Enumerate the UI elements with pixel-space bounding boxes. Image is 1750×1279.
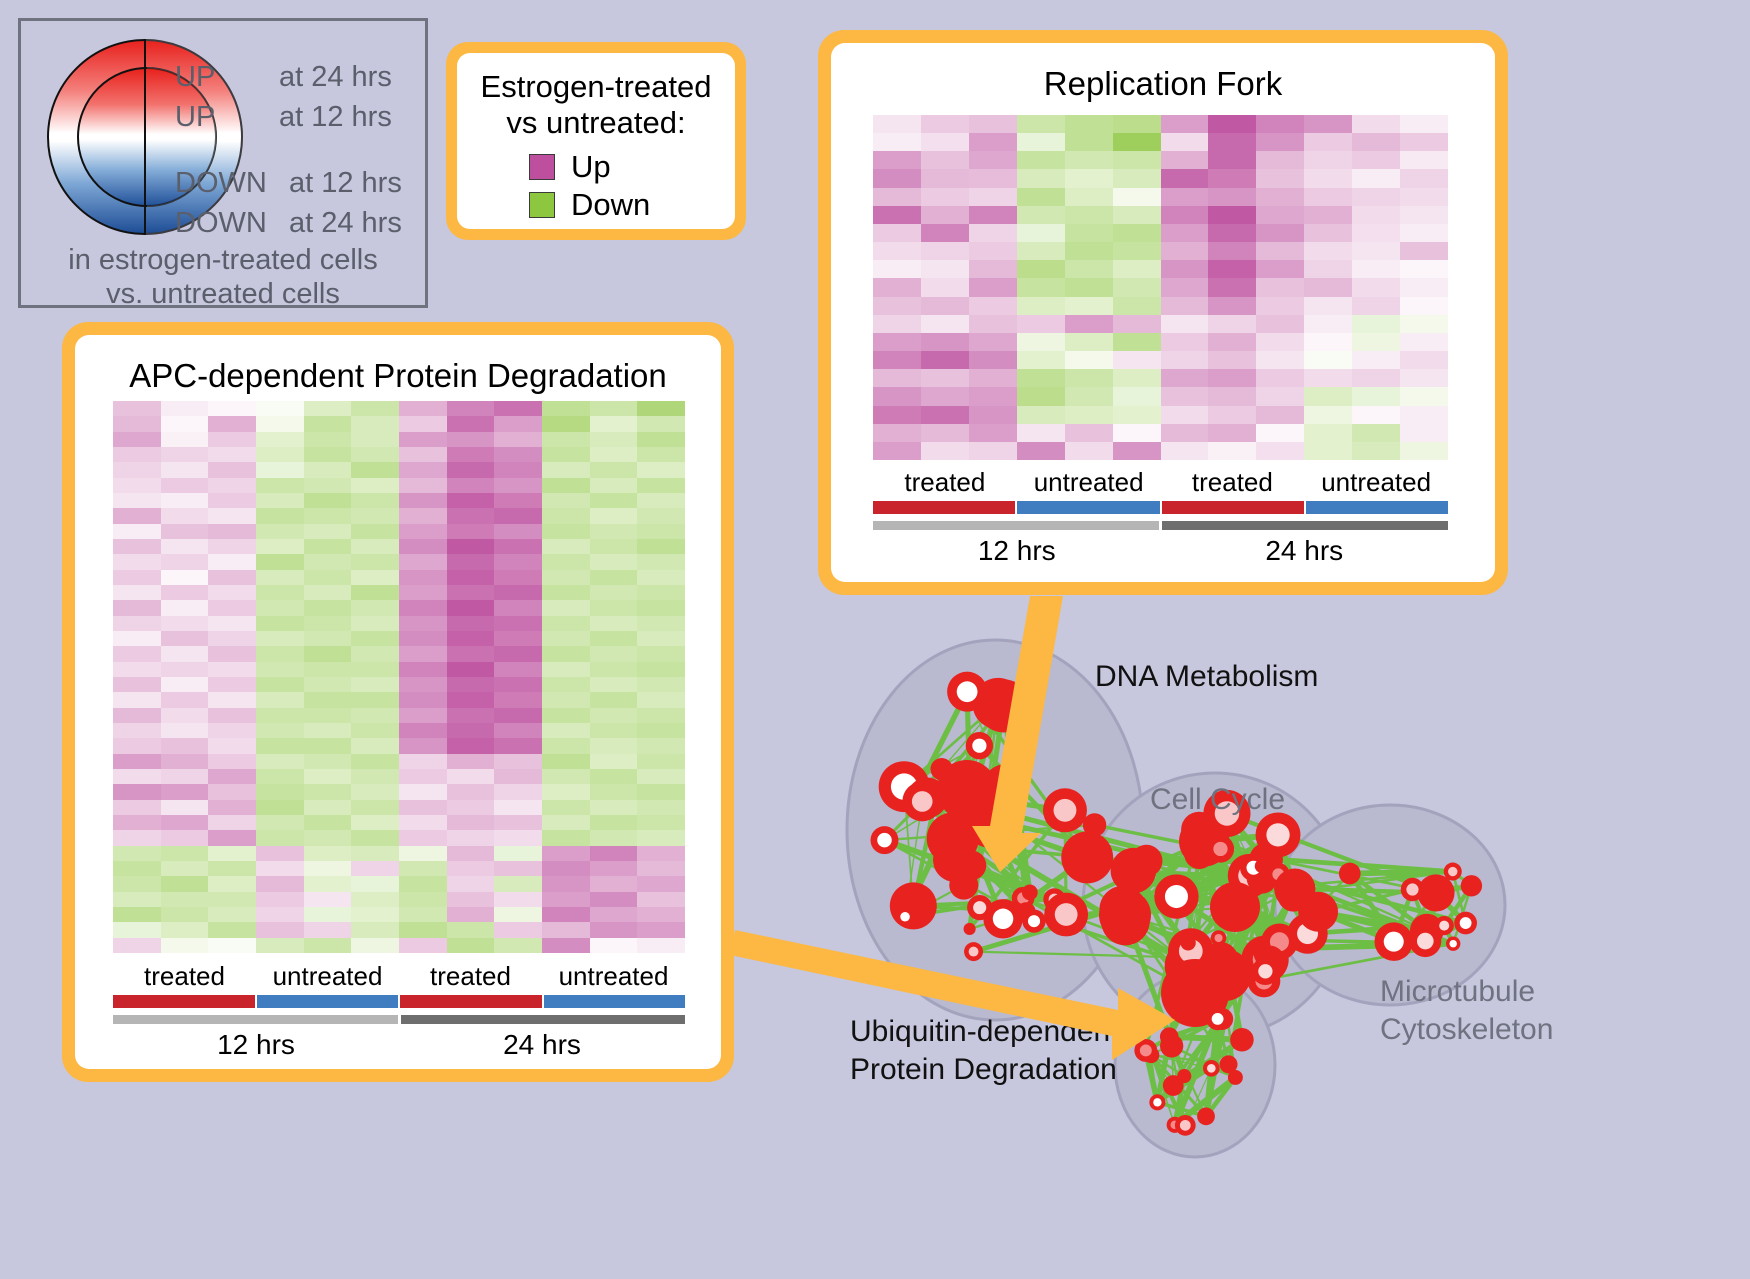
heatmap-cell: [542, 570, 590, 585]
heatmap-cell: [161, 754, 209, 769]
heatmap-cell: [447, 539, 495, 554]
heatmap-cell: [1256, 297, 1304, 315]
network-node-core: [1212, 1013, 1224, 1025]
heatmap-cell: [304, 524, 352, 539]
heatmap-cell: [542, 876, 590, 891]
heatmap-cell: [113, 493, 161, 508]
network-node[interactable]: [1298, 892, 1338, 932]
heatmap-cell: [113, 723, 161, 738]
heatmap-cell: [1161, 351, 1209, 369]
heatmap-cell: [590, 723, 638, 738]
heatmap-cell: [208, 462, 256, 477]
network-node-core: [1384, 932, 1404, 952]
heatmap-cell: [1065, 406, 1113, 424]
heatmap-cell: [1113, 315, 1161, 333]
heatmap-cell: [494, 815, 542, 830]
heatmap-cell: [208, 723, 256, 738]
heatmap-cell: [113, 708, 161, 723]
heatmap-cell: [590, 769, 638, 784]
heatmap-cell: [447, 907, 495, 922]
heatmap-cell: [351, 692, 399, 707]
heatmap-cell: [494, 539, 542, 554]
heatmap-cell: [1113, 188, 1161, 206]
updown-key-panel: Estrogen-treated vs untreated: Up Down: [446, 42, 746, 240]
heatmap-cell: [1208, 151, 1256, 169]
heatmap-cell: [590, 646, 638, 661]
heatmap-cell: [113, 570, 161, 585]
heatmap-cell: [542, 907, 590, 922]
heatmap-cell: [921, 424, 969, 442]
treatment-bar: [544, 995, 686, 1008]
heatmap-cell: [161, 508, 209, 523]
legend-time-3: at 24 hrs: [289, 209, 402, 238]
heatmap-cell: [351, 708, 399, 723]
heatmap-cell: [161, 570, 209, 585]
heatmap-cell: [494, 708, 542, 723]
heatmap-cell: [1017, 151, 1065, 169]
heatmap-cell: [542, 800, 590, 815]
heatmap-cell: [637, 600, 685, 615]
heatmap-cell: [1352, 169, 1400, 187]
heatmap-cell: [590, 554, 638, 569]
heatmap-cell: [447, 846, 495, 861]
heatmap-cell: [256, 539, 304, 554]
heatmap-cell: [1400, 351, 1448, 369]
heatmap-cell: [921, 387, 969, 405]
network-node-core: [1180, 1120, 1191, 1131]
heatmap-cell: [161, 432, 209, 447]
heatmap-cell: [542, 539, 590, 554]
heatmap-apc-degradation: [113, 401, 685, 953]
heatmap-cell: [1065, 224, 1113, 242]
heatmap-cell: [256, 846, 304, 861]
heatmap-cell: [494, 677, 542, 692]
heatmap-cell: [447, 784, 495, 799]
heatmap-cell: [351, 830, 399, 845]
heatmap-cell: [1304, 188, 1352, 206]
heatmap-cell: [256, 646, 304, 661]
heatmap-cell: [1161, 169, 1209, 187]
heatmap-cell: [447, 830, 495, 845]
time-label: 12 hrs: [113, 1029, 399, 1061]
heatmap-cell: [256, 892, 304, 907]
network-node-core: [1460, 917, 1472, 929]
network-node[interactable]: [1022, 885, 1038, 901]
heatmap-cell: [1304, 278, 1352, 296]
heatmap-cell: [399, 508, 447, 523]
heatmap-cell: [1208, 369, 1256, 387]
heatmap-cell: [1065, 424, 1113, 442]
heatmap-cell: [494, 462, 542, 477]
heatmap-cell: [256, 401, 304, 416]
heatmap-cell: [256, 631, 304, 646]
heatmap-cell: [1065, 133, 1113, 151]
heatmap-cell: [1065, 151, 1113, 169]
heatmap-cell: [1065, 351, 1113, 369]
heatmap-cell: [304, 846, 352, 861]
network-node[interactable]: [977, 679, 1030, 732]
heatmap-cell: [208, 677, 256, 692]
heatmap-cell: [1208, 224, 1256, 242]
heatmap-cell: [1400, 297, 1448, 315]
heatmap-cell: [494, 447, 542, 462]
panel-replication-fork-inner: Replication Fork treateduntreatedtreated…: [831, 43, 1495, 582]
heatmap-cell: [256, 554, 304, 569]
heatmap-cell: [1256, 169, 1304, 187]
heatmap-cell: [304, 861, 352, 876]
heatmap-cell: [208, 616, 256, 631]
network-node[interactable]: [1230, 1028, 1254, 1052]
heatmap-cell: [208, 738, 256, 753]
heatmap-cell: [113, 754, 161, 769]
heatmap-cell: [447, 524, 495, 539]
heatmap-cell: [921, 315, 969, 333]
heatmap-cell: [399, 416, 447, 431]
heatmap-cell: [590, 754, 638, 769]
heatmap-cell: [399, 677, 447, 692]
heatmap-cell: [1113, 133, 1161, 151]
ring-midline: [144, 39, 146, 235]
heatmap-cell: [1352, 188, 1400, 206]
heatmap-cell: [447, 769, 495, 784]
heatmap-cell: [1256, 315, 1304, 333]
heatmap-cell: [969, 115, 1017, 133]
heatmap-cell: [113, 616, 161, 631]
heatmap-cell: [1304, 206, 1352, 224]
heatmap-cell: [637, 938, 685, 953]
heatmap-cell: [256, 462, 304, 477]
panel-apc-inner: APC-dependent Protein Degradation treate…: [75, 335, 721, 1069]
heatmap-cell: [590, 861, 638, 876]
heatmap-cell: [351, 846, 399, 861]
heatmap-cell: [590, 662, 638, 677]
network-node-core: [1215, 934, 1223, 942]
treatment-bar: [113, 995, 255, 1008]
heatmap-cell: [351, 570, 399, 585]
heatmap-cell: [542, 401, 590, 416]
heatmap-cell: [447, 754, 495, 769]
heatmap-cell: [1161, 387, 1209, 405]
heatmap-cell: [873, 188, 921, 206]
heatmap-cell: [1113, 242, 1161, 260]
heatmap-cell: [637, 493, 685, 508]
heatmap-cell: [351, 769, 399, 784]
heatmap-cell: [447, 616, 495, 631]
network-label-microtubule: Microtubule: [1380, 975, 1535, 1009]
heatmap-cell: [447, 708, 495, 723]
heatmap-cell: [1400, 369, 1448, 387]
heatmap-cell: [1304, 442, 1352, 460]
heatmap-cell: [1400, 188, 1448, 206]
heatmap-cell: [256, 922, 304, 937]
heatmap-cell: [1113, 260, 1161, 278]
heatmap-cell: [1113, 115, 1161, 133]
heatmap-cell: [351, 585, 399, 600]
legend-caption-line2: vs. untreated cells: [21, 277, 425, 311]
apc-time-labels: 12 hrs24 hrs: [113, 1029, 685, 1061]
heatmap-cell: [304, 922, 352, 937]
heatmap-cell: [1352, 115, 1400, 133]
heatmap-cell: [256, 830, 304, 845]
heatmap-cell: [304, 800, 352, 815]
network-node-core: [1213, 842, 1227, 856]
heatmap-cell: [921, 333, 969, 351]
network-node-core: [1207, 1064, 1216, 1073]
heatmap-cell: [969, 260, 1017, 278]
heatmap-cell: [447, 723, 495, 738]
heatmap-cell: [1017, 406, 1065, 424]
heatmap-cell: [1304, 115, 1352, 133]
network-node[interactable]: [1197, 1107, 1215, 1125]
heatmap-cell: [399, 600, 447, 615]
heatmap-cell: [447, 508, 495, 523]
heatmap-cell: [399, 784, 447, 799]
heatmap-cell: [1065, 169, 1113, 187]
heatmap-cell: [161, 723, 209, 738]
time-bar: [113, 1015, 398, 1024]
heatmap-cell: [494, 524, 542, 539]
legend-time-0: at 24 hrs: [279, 63, 392, 92]
heatmap-cell: [399, 815, 447, 830]
heatmap-cell: [161, 416, 209, 431]
heatmap-cell: [1017, 351, 1065, 369]
heatmap-cell: [399, 493, 447, 508]
group-label: untreated: [542, 961, 685, 992]
heatmap-cell: [1017, 169, 1065, 187]
heatmap-cell: [208, 708, 256, 723]
heatmap-cell: [399, 738, 447, 753]
network-node[interactable]: [933, 838, 977, 882]
heatmap-cell: [447, 800, 495, 815]
heatmap-cell: [161, 447, 209, 462]
heatmap-cell: [1017, 224, 1065, 242]
network-node-core: [1406, 883, 1418, 895]
heatmap-cell: [351, 754, 399, 769]
heatmap-cell: [590, 738, 638, 753]
heatmap-cell: [637, 769, 685, 784]
heatmap-cell: [1352, 260, 1400, 278]
network-node[interactable]: [1111, 848, 1156, 893]
heatmap-cell: [351, 784, 399, 799]
heatmap-cell: [1113, 369, 1161, 387]
network-label-cell-cycle: Cell Cycle: [1150, 783, 1285, 817]
heatmap-cell: [208, 769, 256, 784]
heatmap-cell: [399, 646, 447, 661]
heatmap-cell: [1352, 424, 1400, 442]
heatmap-cell: [590, 830, 638, 845]
heatmap-cell: [542, 784, 590, 799]
network-label-cytoskeleton: Cytoskeleton: [1380, 1013, 1553, 1047]
heatmap-cell: [256, 524, 304, 539]
heatmap-cell: [256, 692, 304, 707]
heatmap-cell: [1304, 297, 1352, 315]
heatmap-cell: [494, 784, 542, 799]
heatmap-cell: [304, 784, 352, 799]
heatmap-cell: [113, 922, 161, 937]
heatmap-cell: [351, 646, 399, 661]
heatmap-cell: [208, 861, 256, 876]
heatmap-cell: [208, 416, 256, 431]
down-color-swatch: [529, 192, 555, 218]
network-node[interactable]: [890, 882, 937, 929]
heatmap-cell: [1400, 206, 1448, 224]
heatmap-cell: [1304, 406, 1352, 424]
heatmap-cell: [1304, 315, 1352, 333]
heatmap-cell: [1352, 206, 1400, 224]
heatmap-cell: [447, 938, 495, 953]
heatmap-cell: [304, 508, 352, 523]
network-node-core: [1417, 933, 1434, 950]
heatmap-cell: [256, 662, 304, 677]
heatmap-cell: [399, 800, 447, 815]
network-node[interactable]: [1160, 1034, 1183, 1057]
heatmap-cell: [208, 432, 256, 447]
group-label: treated: [1161, 467, 1305, 498]
heatmap-cell: [590, 922, 638, 937]
heatmap-cell: [399, 631, 447, 646]
heatmap-cell: [590, 539, 638, 554]
heatmap-cell: [873, 297, 921, 315]
heatmap-cell: [590, 784, 638, 799]
panel-replication-fork-title: Replication Fork: [831, 65, 1495, 103]
network-node[interactable]: [963, 792, 1019, 848]
heatmap-cell: [1256, 351, 1304, 369]
network-node[interactable]: [1163, 1075, 1184, 1096]
heatmap-cell: [447, 416, 495, 431]
heatmap-cell: [161, 769, 209, 784]
heatmap-cell: [161, 938, 209, 953]
heatmap-cell: [1256, 387, 1304, 405]
heatmap-cell: [921, 351, 969, 369]
network-label-ubiquitin-line2: Protein Degradation: [850, 1053, 1117, 1087]
heatmap-cell: [494, 892, 542, 907]
network-node-core: [957, 681, 978, 702]
heatmap-cell: [1017, 278, 1065, 296]
heatmap-cell: [1208, 115, 1256, 133]
heatmap-cell: [1304, 242, 1352, 260]
network-node[interactable]: [1199, 949, 1251, 1001]
heatmap-cell: [590, 508, 638, 523]
heatmap-cell: [494, 401, 542, 416]
heatmap-cell: [256, 876, 304, 891]
network-node-core: [973, 901, 986, 914]
heatmap-cell: [1017, 424, 1065, 442]
heatmap-cell: [1256, 188, 1304, 206]
heatmap-cell: [494, 754, 542, 769]
heatmap-cell: [1065, 115, 1113, 133]
heatmap-cell: [256, 677, 304, 692]
heatmap-cell: [1352, 133, 1400, 151]
heatmap-cell: [1113, 206, 1161, 224]
heatmap-cell: [637, 585, 685, 600]
heatmap-cell: [208, 508, 256, 523]
network-node[interactable]: [1061, 832, 1113, 884]
heatmap-cell: [1017, 133, 1065, 151]
network-node[interactable]: [1083, 813, 1106, 836]
network-node[interactable]: [1339, 863, 1361, 885]
time-bar: [873, 521, 1159, 530]
heatmap-cell: [590, 462, 638, 477]
heatmap-cell: [873, 133, 921, 151]
heatmap-cell: [637, 738, 685, 753]
heatmap-cell: [399, 938, 447, 953]
heatmap-cell: [256, 754, 304, 769]
heatmap-cell: [873, 442, 921, 460]
heatmap-cell: [208, 646, 256, 661]
heatmap-cell: [161, 892, 209, 907]
heatmap-cell: [399, 616, 447, 631]
network-node[interactable]: [1180, 935, 1195, 950]
heatmap-cell: [447, 401, 495, 416]
heatmap-cell: [1208, 406, 1256, 424]
heatmap-cell: [542, 692, 590, 707]
colorwheel-legend-box: UP at 24 hrs UP at 12 hrs DOWN at 12 hrs…: [18, 18, 428, 308]
heatmap-cell: [1208, 442, 1256, 460]
heatmap-cell: [447, 662, 495, 677]
heatmap-cell: [542, 585, 590, 600]
legend-direction-2: DOWN: [175, 169, 267, 198]
panel-apc-title: APC-dependent Protein Degradation: [75, 357, 721, 395]
network-node-core: [912, 791, 933, 812]
heatmap-cell: [447, 570, 495, 585]
heatmap-cell: [542, 631, 590, 646]
heatmap-cell: [304, 570, 352, 585]
heatmap-cell: [542, 754, 590, 769]
heatmap-cell: [494, 508, 542, 523]
heatmap-cell: [256, 600, 304, 615]
heatmap-cell: [208, 539, 256, 554]
time-label: 24 hrs: [1161, 535, 1449, 567]
heatmap-cell: [1256, 133, 1304, 151]
updown-key-inner: Estrogen-treated vs untreated: Up Down: [457, 53, 735, 229]
heatmap-cell: [113, 554, 161, 569]
heatmap-cell: [1256, 278, 1304, 296]
network-node[interactable]: [1461, 875, 1482, 896]
heatmap-cell: [256, 938, 304, 953]
heatmap-cell: [113, 401, 161, 416]
panel-replication-fork: Replication Fork treateduntreatedtreated…: [818, 30, 1508, 595]
heatmap-cell: [637, 892, 685, 907]
network-node[interactable]: [1228, 1070, 1243, 1085]
heatmap-cell: [542, 861, 590, 876]
heatmap-cell: [161, 401, 209, 416]
heatmap-cell: [113, 769, 161, 784]
network-node[interactable]: [1255, 859, 1269, 873]
heatmap-cell: [161, 646, 209, 661]
heatmap-cell: [969, 315, 1017, 333]
heatmap-cell: [921, 133, 969, 151]
network-node[interactable]: [964, 923, 976, 935]
heatmap-cell: [447, 876, 495, 891]
heatmap-cell: [590, 600, 638, 615]
heatmap-cell: [921, 169, 969, 187]
heatmap-cell: [494, 416, 542, 431]
network-node-core: [969, 947, 979, 957]
heatmap-cell: [1161, 369, 1209, 387]
heatmap-cell: [1113, 224, 1161, 242]
legend-time-2: at 12 hrs: [289, 169, 402, 198]
heatmap-cell: [208, 830, 256, 845]
heatmap-cell: [590, 876, 638, 891]
heatmap-cell: [113, 508, 161, 523]
network-node[interactable]: [1210, 882, 1260, 932]
heatmap-cell: [304, 600, 352, 615]
heatmap-cell: [256, 769, 304, 784]
heatmap-cell: [1304, 424, 1352, 442]
heatmap-cell: [637, 723, 685, 738]
heatmap-cell: [969, 133, 1017, 151]
network-node[interactable]: [1099, 889, 1151, 941]
